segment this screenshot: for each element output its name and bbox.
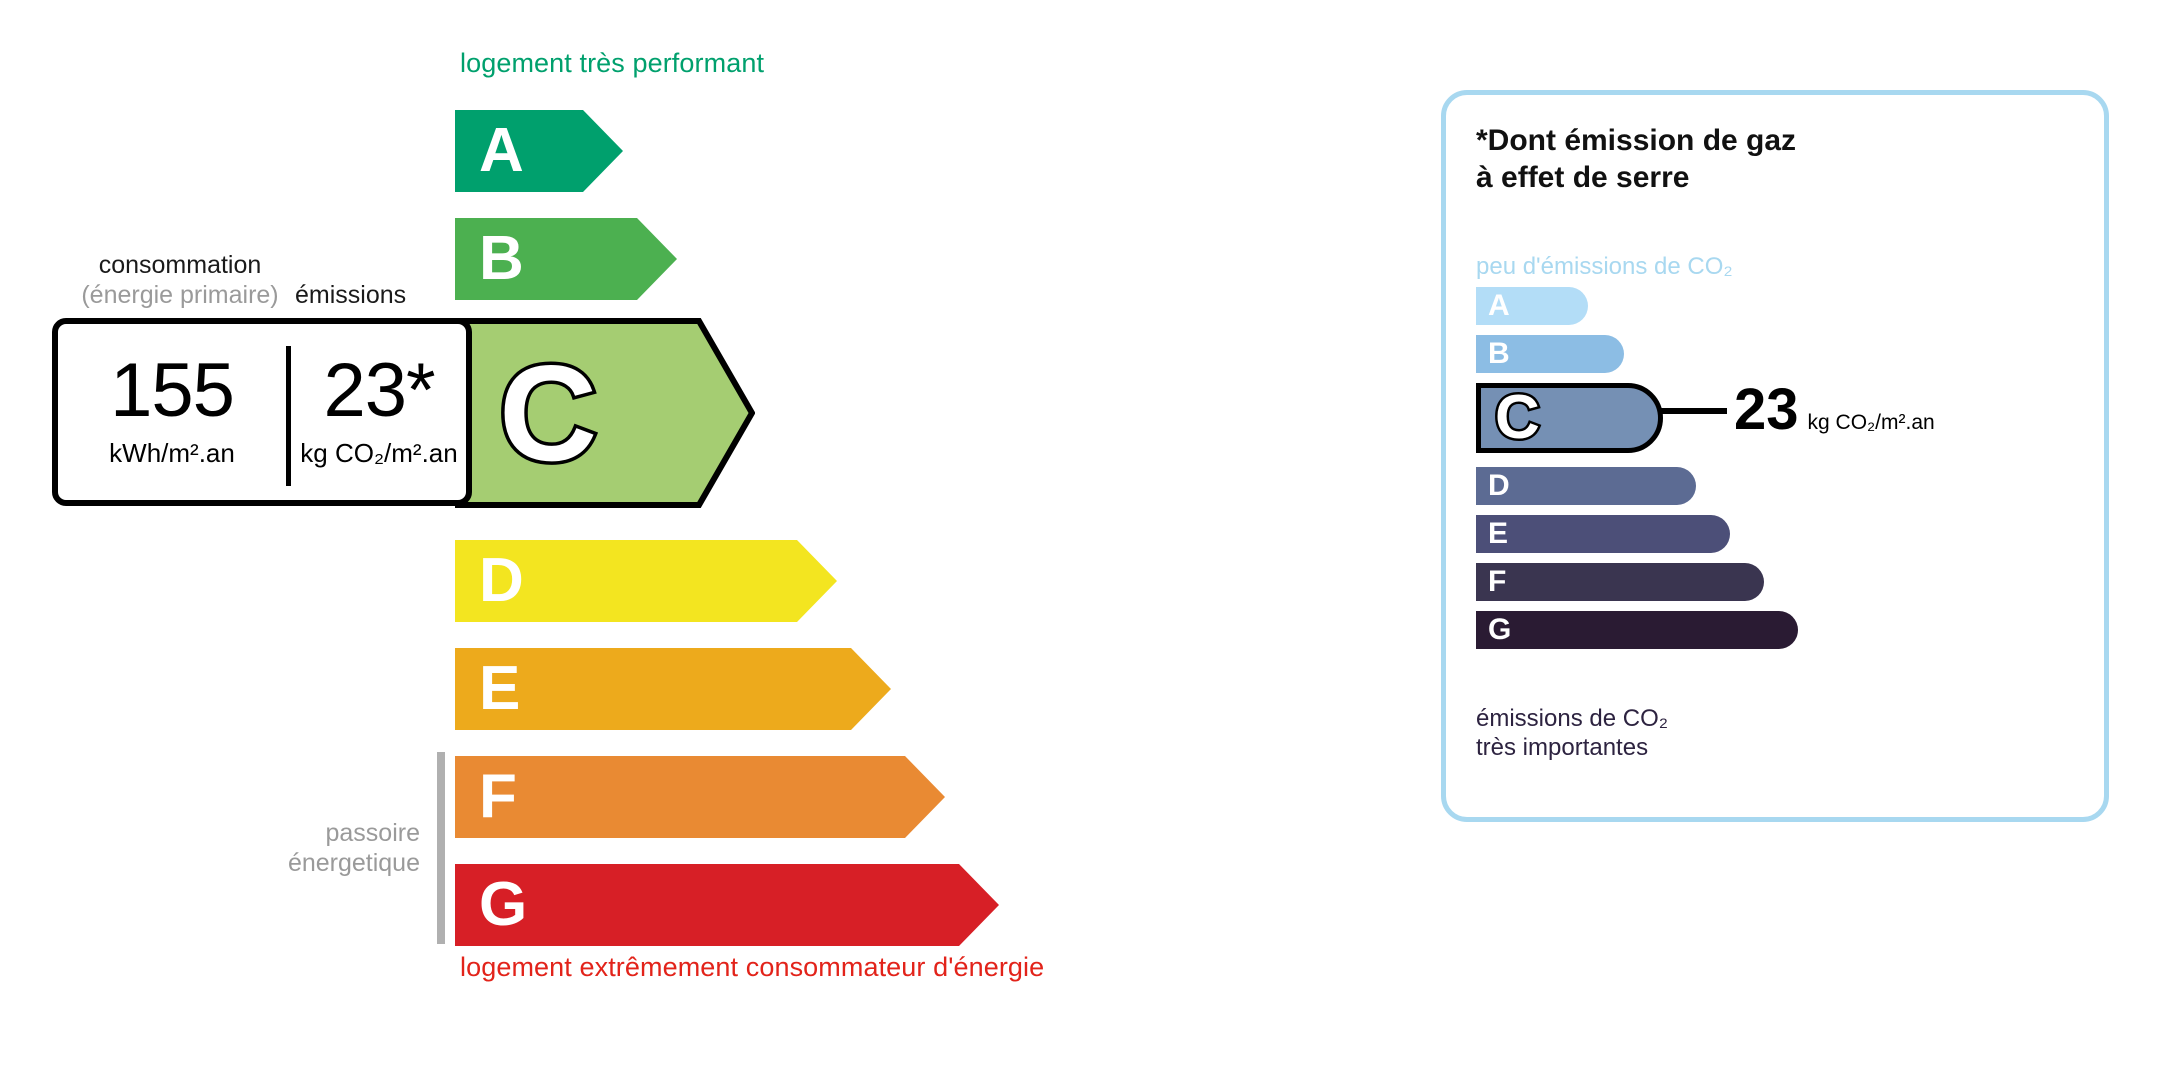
emissions-column-label: émissions [295,281,406,310]
passoire-label-line1: passoire [326,819,421,847]
energy-class-letter-a: A [479,120,524,182]
co2-class-bar-g: G [1476,611,1798,649]
co2-bottom-caption: émissions de CO₂ très importantes [1476,705,1668,763]
energy-class-arrow-e: E [455,648,891,730]
co2-class-bar-e: E [1476,515,1730,553]
energy-class-arrow-c: C [455,318,755,508]
energy-class-arrow-f: F [455,756,945,838]
energy-class-arrow-b: B [455,218,677,300]
emissions-unit: kg CO₂/m².an [300,438,457,469]
energy-scale-panel: logement très performant consommation (é… [0,0,1380,1079]
arrow-shape [455,864,999,946]
co2-callout-value-number: 23 [1734,381,1799,439]
co2-top-caption: peu d'émissions de CO₂ [1476,253,1733,281]
co2-bar-shape: E [1476,515,1730,553]
energy-class-letter-c: C [499,345,597,481]
co2-class-letter-c: C [1495,387,1540,449]
consumption-label-sub: (énergie primaire) [60,281,300,311]
co2-panel: *Dont émission de gaz à effet de serre p… [1441,90,2109,822]
co2-class-bar-c: C [1476,383,1663,453]
co2-panel-title: *Dont émission de gaz à effet de serre [1476,123,1796,196]
passoire-bracket [437,752,445,944]
co2-title-line2: à effet de serre [1476,161,1689,194]
arrow-shape [455,756,945,838]
co2-class-letter-d: D [1488,471,1510,501]
energy-class-letter-d: D [479,550,524,612]
co2-bar-shape: G [1476,611,1798,649]
energy-scale-bottom-caption: logement extrêmement consommateur d'éner… [460,952,1044,983]
emissions-value-cell: 23* kg CO₂/m².an [286,324,472,500]
consumption-label-main: consommation [99,251,262,279]
passoire-label: passoire énergetique [250,818,420,878]
co2-class-letter-f: F [1488,567,1506,597]
energy-class-arrow-d: D [455,540,837,622]
co2-callout-unit: kg CO₂/m².an [1808,411,1935,435]
co2-bar-shape: C [1476,383,1663,453]
co2-class-bar-a: A [1476,287,1588,325]
co2-bar-shape: F [1476,563,1764,601]
energy-class-letter-f: F [479,766,517,828]
emissions-value: 23* [323,355,434,427]
co2-title-line1: *Dont émission de gaz [1476,124,1796,157]
arrow-shape [455,648,891,730]
consumption-column-label: consommation (énergie primaire) [60,251,300,310]
co2-bottom-caption-line1: émissions de CO₂ [1476,705,1668,732]
co2-bar-shape: D [1476,467,1696,505]
consumption-unit: kWh/m².an [109,438,235,469]
energy-class-letter-g: G [479,874,527,936]
co2-class-letter-a: A [1488,291,1510,321]
co2-class-bar-b: B [1476,335,1624,373]
passoire-label-line2: énergetique [288,849,420,877]
co2-bottom-caption-line2: très importantes [1476,734,1648,761]
consumption-value: 155 [110,355,234,427]
co2-class-bar-f: F [1476,563,1764,601]
energy-class-letter-b: B [479,228,524,290]
co2-callout: 23 kg CO₂/m².an [1734,381,1935,439]
energy-class-letter-e: E [479,658,520,720]
energy-class-arrow-a: A [455,110,623,192]
co2-class-letter-g: G [1488,615,1511,645]
co2-class-letter-b: B [1488,339,1510,369]
measured-values-box: 155 kWh/m².an 23* kg CO₂/m².an [52,318,472,506]
co2-bar-shape: A [1476,287,1588,325]
consumption-value-cell: 155 kWh/m².an [58,324,286,500]
co2-class-bar-d: D [1476,467,1696,505]
co2-bar-shape: B [1476,335,1624,373]
co2-class-letter-e: E [1488,519,1508,549]
energy-scale-top-caption: logement très performant [460,48,764,79]
energy-class-arrow-g: G [455,864,999,946]
